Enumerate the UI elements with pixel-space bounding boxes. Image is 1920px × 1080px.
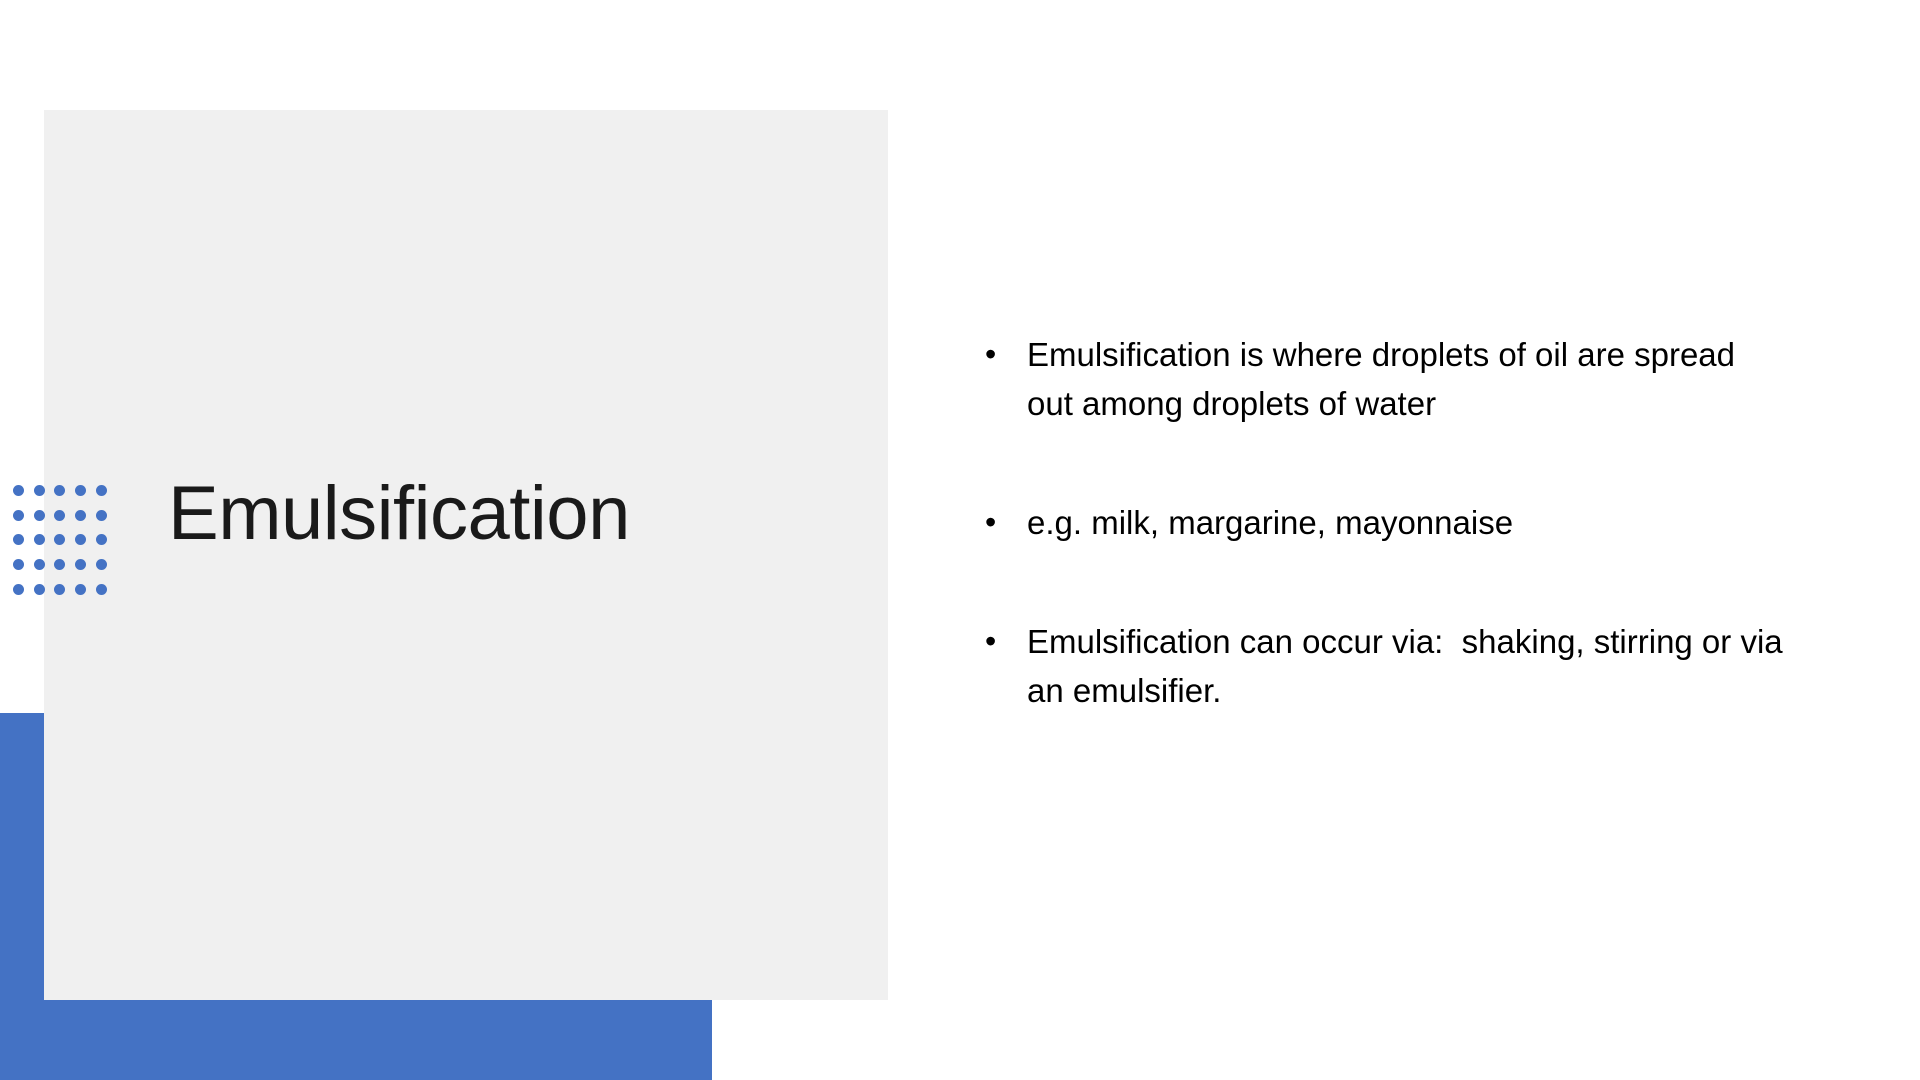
bullet-point-icon: • bbox=[985, 617, 1027, 666]
dot-icon bbox=[96, 534, 107, 545]
dot-icon bbox=[75, 534, 86, 545]
list-item-text: e.g. milk, margarine, mayonnaise bbox=[1027, 498, 1785, 547]
dot-icon bbox=[34, 559, 45, 570]
dot-cell bbox=[8, 503, 29, 528]
dot-icon bbox=[75, 559, 86, 570]
dot-cell bbox=[91, 503, 112, 528]
dot-icon bbox=[96, 559, 107, 570]
dot-icon bbox=[54, 559, 65, 570]
dot-icon bbox=[34, 485, 45, 496]
dot-icon bbox=[34, 534, 45, 545]
dot-grid-decoration bbox=[8, 478, 112, 602]
dot-icon bbox=[13, 510, 24, 521]
dot-cell bbox=[91, 552, 112, 577]
dot-icon bbox=[54, 485, 65, 496]
dot-cell bbox=[29, 478, 50, 503]
dot-icon bbox=[34, 584, 45, 595]
dot-icon bbox=[75, 510, 86, 521]
dot-icon bbox=[54, 534, 65, 545]
dot-icon bbox=[34, 510, 45, 521]
accent-bar-horizontal bbox=[0, 1000, 712, 1080]
list-item: • Emulsification can occur via: shaking,… bbox=[985, 617, 1785, 715]
dot-cell bbox=[29, 577, 50, 602]
dot-cell bbox=[70, 528, 91, 553]
list-item-text: Emulsification is where droplets of oil … bbox=[1027, 330, 1785, 428]
list-item: • Emulsification is where droplets of oi… bbox=[985, 330, 1785, 428]
dot-cell bbox=[8, 552, 29, 577]
dot-icon bbox=[13, 584, 24, 595]
dot-icon bbox=[75, 584, 86, 595]
slide-body-content: • Emulsification is where droplets of oi… bbox=[985, 330, 1785, 715]
presentation-slide: Emulsification • Emulsification is where… bbox=[0, 0, 1920, 1080]
dot-cell bbox=[8, 478, 29, 503]
dot-cell bbox=[91, 528, 112, 553]
dot-cell bbox=[91, 478, 112, 503]
dot-cell bbox=[70, 503, 91, 528]
dot-cell bbox=[50, 478, 71, 503]
dot-icon bbox=[96, 584, 107, 595]
dot-cell bbox=[70, 478, 91, 503]
dot-icon bbox=[96, 510, 107, 521]
dot-icon bbox=[75, 485, 86, 496]
bullet-point-icon: • bbox=[985, 498, 1027, 547]
dot-cell bbox=[91, 577, 112, 602]
dot-cell bbox=[8, 577, 29, 602]
dot-icon bbox=[96, 485, 107, 496]
dot-icon bbox=[13, 559, 24, 570]
list-item: • e.g. milk, margarine, mayonnaise bbox=[985, 498, 1785, 547]
dot-cell bbox=[70, 577, 91, 602]
dot-icon bbox=[54, 584, 65, 595]
dot-cell bbox=[29, 503, 50, 528]
list-item-text: Emulsification can occur via: shaking, s… bbox=[1027, 617, 1785, 715]
dot-cell bbox=[50, 552, 71, 577]
dot-icon bbox=[13, 534, 24, 545]
dot-icon bbox=[54, 510, 65, 521]
dot-cell bbox=[29, 528, 50, 553]
bullet-point-icon: • bbox=[985, 330, 1027, 379]
dot-cell bbox=[50, 577, 71, 602]
dot-cell bbox=[29, 552, 50, 577]
slide-title: Emulsification bbox=[168, 470, 868, 557]
dot-cell bbox=[50, 528, 71, 553]
dot-cell bbox=[50, 503, 71, 528]
dot-cell bbox=[8, 528, 29, 553]
dot-icon bbox=[13, 485, 24, 496]
dot-cell bbox=[70, 552, 91, 577]
